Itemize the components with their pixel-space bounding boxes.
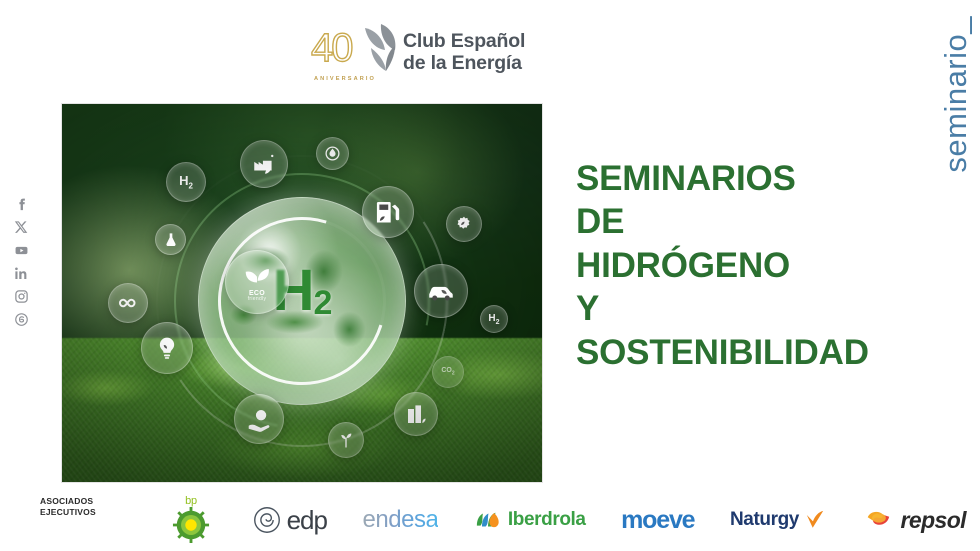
anniversary-number: 40 bbox=[311, 26, 352, 71]
endesa-wordmark: endesa bbox=[363, 506, 439, 534]
title-line-2: DE bbox=[576, 200, 936, 243]
seminar-poster: 40 ANIVERSARIO Club Español de la Energí… bbox=[0, 0, 980, 551]
instagram-icon[interactable] bbox=[13, 288, 29, 304]
sponsors-footer: ASOCIADOS EJECUTIVOS bp bbox=[0, 489, 980, 551]
associates-label: ASOCIADOS EJECUTIVOS bbox=[40, 496, 96, 517]
repsol-swirl-icon bbox=[861, 506, 895, 534]
hero-vignette bbox=[62, 104, 542, 482]
repsol-wordmark: repsol bbox=[901, 507, 966, 534]
title-line-1: SEMINARIOS bbox=[576, 157, 936, 200]
title-line-3: HIDRÓGENO bbox=[576, 244, 936, 287]
iberdrola-flame-icon bbox=[474, 507, 502, 533]
iberdrola-wordmark: Iberdrola bbox=[508, 509, 586, 531]
sponsor-logo-row: bp bbox=[165, 489, 966, 551]
edp-swirl-icon bbox=[253, 506, 281, 534]
naturgy-logo[interactable]: Naturgy bbox=[730, 509, 825, 531]
social-links-rail bbox=[8, 196, 34, 327]
wheat-leaf-icon bbox=[355, 22, 399, 72]
endesa-logo[interactable]: endesa bbox=[363, 506, 439, 534]
moeve-wordmark: moeve bbox=[621, 506, 694, 535]
edp-logo[interactable]: edp bbox=[253, 505, 327, 536]
x-twitter-icon[interactable] bbox=[13, 219, 29, 235]
title-line-4: Y bbox=[576, 287, 936, 330]
facebook-icon[interactable] bbox=[13, 196, 29, 212]
naturgy-wordmark: Naturgy bbox=[730, 509, 799, 531]
iberdrola-logo[interactable]: Iberdrola bbox=[474, 507, 586, 533]
hero-image: H2 H2 ECOfriendly bbox=[61, 103, 543, 483]
bp-sunburst-icon bbox=[172, 506, 210, 544]
moeve-logo[interactable]: moeve bbox=[621, 506, 694, 535]
bp-logo[interactable]: bp bbox=[165, 497, 217, 543]
club-espanol-energia-logo: 40 ANIVERSARIO Club Español de la Energí… bbox=[311, 24, 525, 82]
page-title: SEMINARIOS DE HIDRÓGENO Y SOSTENIBILIDAD bbox=[576, 157, 936, 374]
anniversary-mark: 40 ANIVERSARIO bbox=[311, 24, 395, 82]
linkedin-icon[interactable] bbox=[13, 265, 29, 281]
edp-wordmark: edp bbox=[287, 505, 327, 536]
brand-name: Club Español de la Energía bbox=[403, 31, 525, 75]
repsol-logo[interactable]: repsol bbox=[861, 506, 966, 534]
anniversary-label: ANIVERSARIO bbox=[314, 76, 376, 82]
youtube-icon[interactable] bbox=[13, 242, 29, 258]
threads-icon[interactable] bbox=[13, 311, 29, 327]
naturgy-check-icon bbox=[805, 509, 825, 531]
title-line-5: SOSTENIBILIDAD bbox=[576, 331, 936, 374]
vertical-seminario-label: seminario_ bbox=[938, 16, 974, 173]
